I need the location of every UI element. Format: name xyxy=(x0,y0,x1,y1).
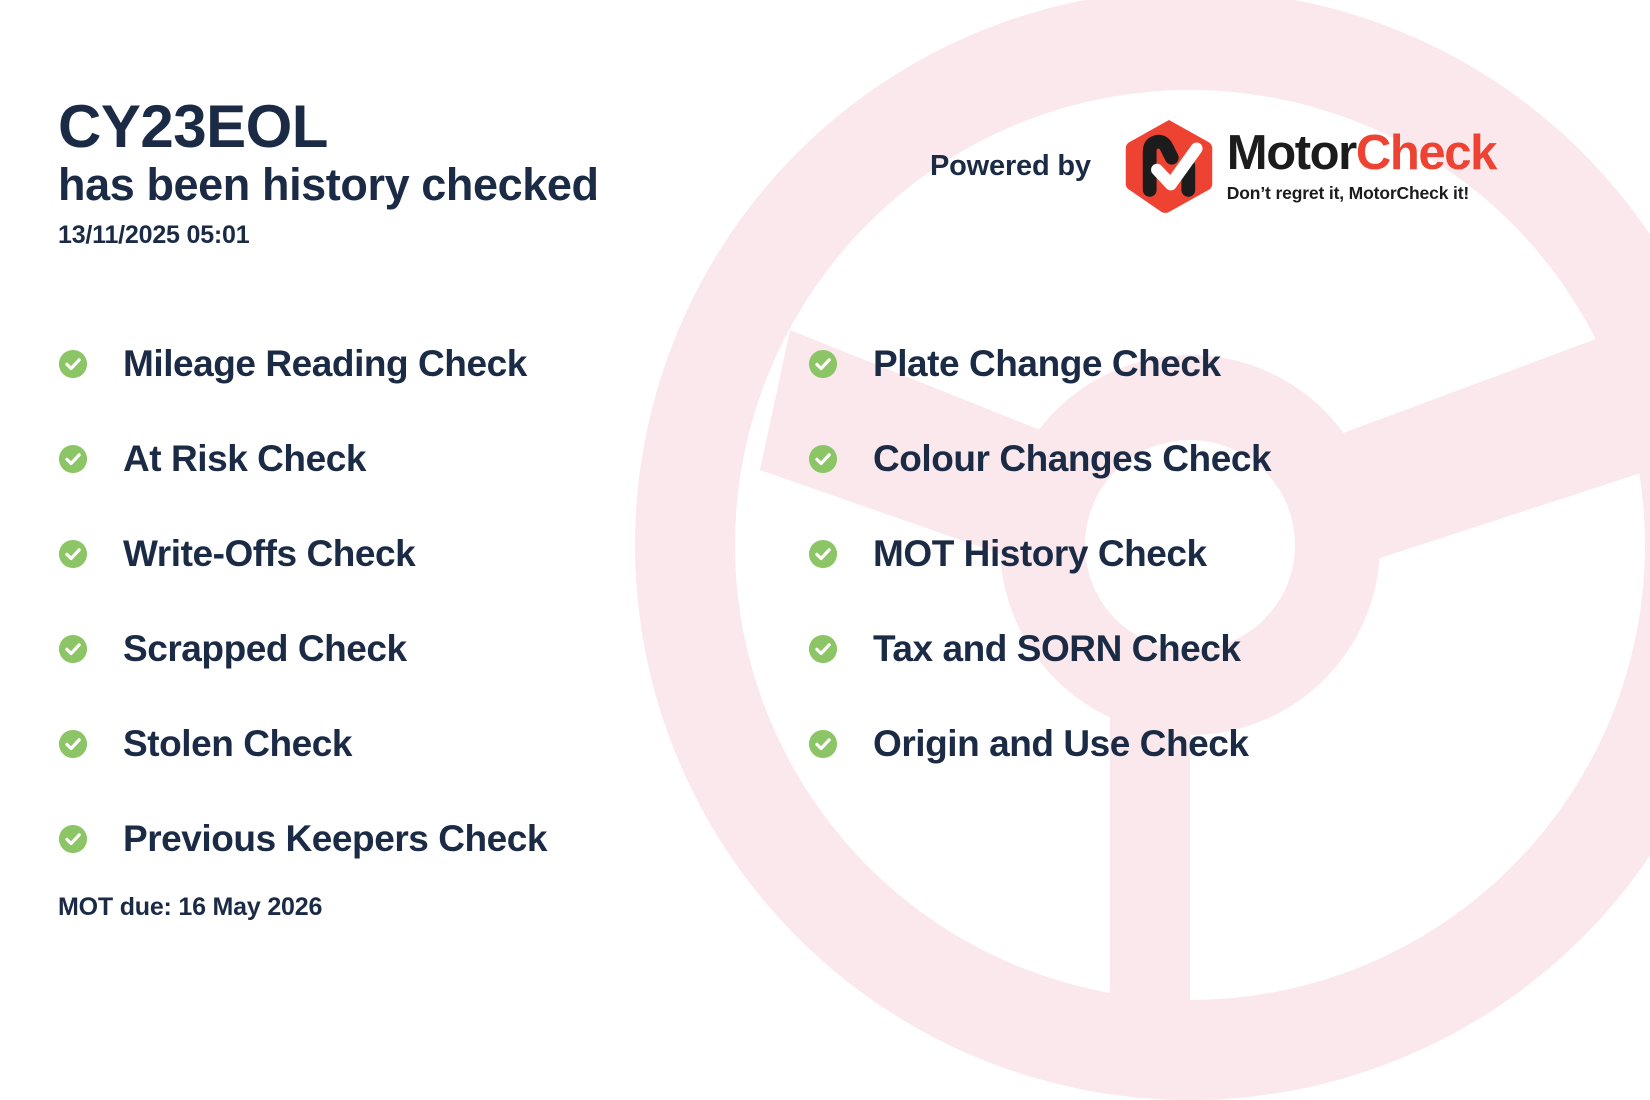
check-item-label: Tax and SORN Check xyxy=(873,630,1240,667)
checks-column-right: Plate Change Check Colour Changes Check … xyxy=(808,316,1558,886)
check-item[interactable]: Scrapped Check xyxy=(58,601,808,696)
motorcheck-hexagon-icon xyxy=(1123,118,1215,214)
check-circle-icon xyxy=(58,444,88,474)
check-circle-icon xyxy=(808,634,838,664)
check-circle-icon xyxy=(58,539,88,569)
check-item-label: Scrapped Check xyxy=(123,630,407,667)
check-item[interactable]: Plate Change Check xyxy=(808,316,1558,411)
powered-by-label: Powered by xyxy=(930,150,1091,183)
check-item-label: At Risk Check xyxy=(123,440,366,477)
card-header: CY23EOL has been history checked 13/11/2… xyxy=(58,96,599,250)
logo-wordmark: MotorCheck Don’t regret it, MotorCheck i… xyxy=(1227,129,1496,204)
registration-plate: CY23EOL xyxy=(58,96,599,158)
page-title: has been history checked xyxy=(58,160,599,210)
check-item[interactable]: Tax and SORN Check xyxy=(808,601,1558,696)
check-item-label: MOT History Check xyxy=(873,535,1207,572)
checks-list: Mileage Reading Check At Risk Check Writ… xyxy=(58,316,1558,886)
check-circle-icon xyxy=(58,634,88,664)
check-timestamp: 13/11/2025 05:01 xyxy=(58,221,599,250)
check-circle-icon xyxy=(58,824,88,854)
check-circle-icon xyxy=(58,729,88,759)
check-item-label: Stolen Check xyxy=(123,725,352,762)
check-item[interactable]: Origin and Use Check xyxy=(808,696,1558,791)
motorcheck-logo[interactable]: MotorCheck Don’t regret it, MotorCheck i… xyxy=(1123,118,1496,214)
check-circle-icon xyxy=(808,444,838,474)
check-item[interactable]: Colour Changes Check xyxy=(808,411,1558,506)
check-item[interactable]: Stolen Check xyxy=(58,696,808,791)
mot-due-text: MOT due: 16 May 2026 xyxy=(58,893,322,922)
check-item-label: Origin and Use Check xyxy=(873,725,1249,762)
check-circle-icon xyxy=(58,349,88,379)
check-item[interactable]: MOT History Check xyxy=(808,506,1558,601)
branding-block: Powered by MotorCheck Don’t regret it, M… xyxy=(930,118,1496,214)
checks-column-left: Mileage Reading Check At Risk Check Writ… xyxy=(58,316,808,886)
check-item-label: Mileage Reading Check xyxy=(123,345,527,382)
logo-tagline: Don’t regret it, MotorCheck it! xyxy=(1227,183,1496,204)
check-item-label: Previous Keepers Check xyxy=(123,820,547,857)
check-item[interactable]: Mileage Reading Check xyxy=(58,316,808,411)
history-check-summary-card: CY23EOL has been history checked 13/11/2… xyxy=(0,0,1650,1100)
check-circle-icon xyxy=(808,539,838,569)
check-circle-icon xyxy=(808,729,838,759)
check-item-label: Write-Offs Check xyxy=(123,535,415,572)
check-item[interactable]: Write-Offs Check xyxy=(58,506,808,601)
logo-word-check: Check xyxy=(1356,126,1496,180)
check-circle-icon xyxy=(808,349,838,379)
check-item-label: Colour Changes Check xyxy=(873,440,1271,477)
check-item[interactable]: Previous Keepers Check xyxy=(58,791,808,886)
check-item[interactable]: At Risk Check xyxy=(58,411,808,506)
logo-word-motor: Motor xyxy=(1227,126,1356,180)
check-item-label: Plate Change Check xyxy=(873,345,1221,382)
